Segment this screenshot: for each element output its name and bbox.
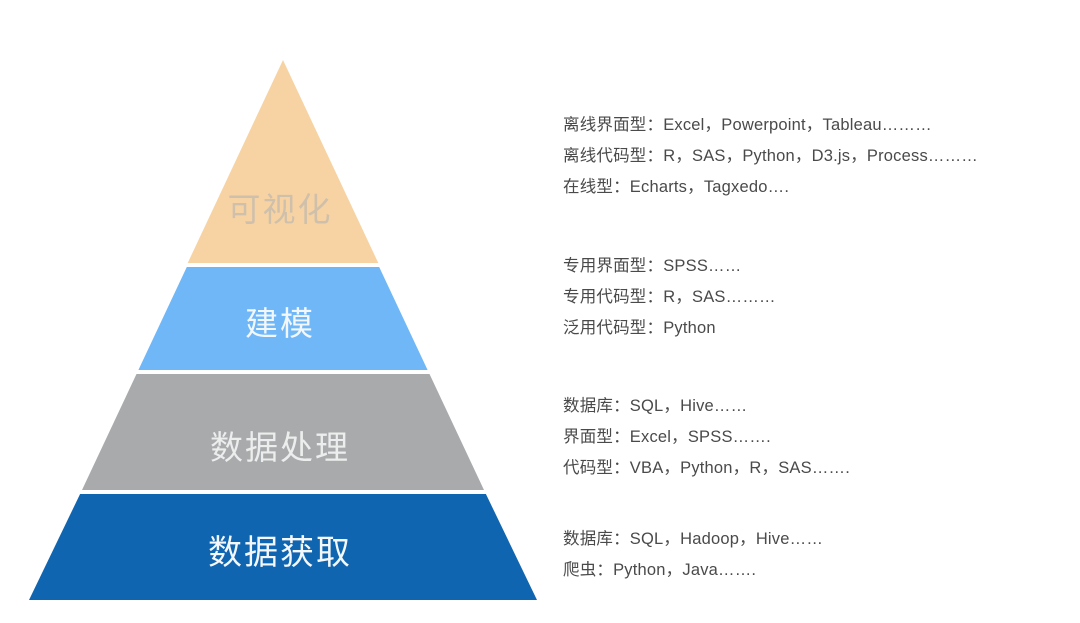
annotation-line: 界面型：Excel，SPSS…….	[563, 422, 1078, 453]
diagram-canvas: 可视化 建模 数据处理 数据获取 离线界面型：Excel，Powerpoint，…	[0, 0, 1080, 623]
annotation-line: 爬虫：Python，Java…….	[563, 555, 1078, 586]
annotation-group-data-acquisition: 数据库：SQL，Hadoop，Hive…… 爬虫：Python，Java…….	[563, 524, 1078, 586]
annotation-column: 离线界面型：Excel，Powerpoint，Tableau……… 离线代码型：…	[560, 0, 1080, 623]
annotation-line: 离线界面型：Excel，Powerpoint，Tableau………	[563, 110, 1078, 141]
pyramid-diagram: 可视化 建模 数据处理 数据获取	[0, 0, 560, 623]
annotation-line: 代码型：VBA，Python，R，SAS…….	[563, 453, 1078, 484]
pyramid-tier-data-processing[interactable]	[82, 374, 484, 490]
pyramid-tier-data-acquisition[interactable]	[29, 494, 537, 600]
annotation-line: 数据库：SQL，Hadoop，Hive……	[563, 524, 1078, 555]
pyramid-tier-modeling[interactable]	[138, 267, 427, 370]
annotation-group-data-processing: 数据库：SQL，Hive…… 界面型：Excel，SPSS……. 代码型：VBA…	[563, 391, 1078, 484]
annotation-group-modeling: 专用界面型：SPSS…… 专用代码型：R，SAS……… 泛用代码型：Python	[563, 251, 1078, 344]
pyramid-shape	[0, 0, 560, 623]
annotation-line: 数据库：SQL，Hive……	[563, 391, 1078, 422]
annotation-group-visualization: 离线界面型：Excel，Powerpoint，Tableau……… 离线代码型：…	[563, 110, 1078, 203]
annotation-line: 在线型：Echarts，Tagxedo….	[563, 172, 1078, 203]
annotation-line: 专用代码型：R，SAS………	[563, 282, 1078, 313]
pyramid-tier-visualization[interactable]	[188, 60, 379, 263]
annotation-line: 离线代码型：R，SAS，Python，D3.js，Process………	[563, 141, 1078, 172]
annotation-line: 专用界面型：SPSS……	[563, 251, 1078, 282]
annotation-line: 泛用代码型：Python	[563, 313, 1078, 344]
